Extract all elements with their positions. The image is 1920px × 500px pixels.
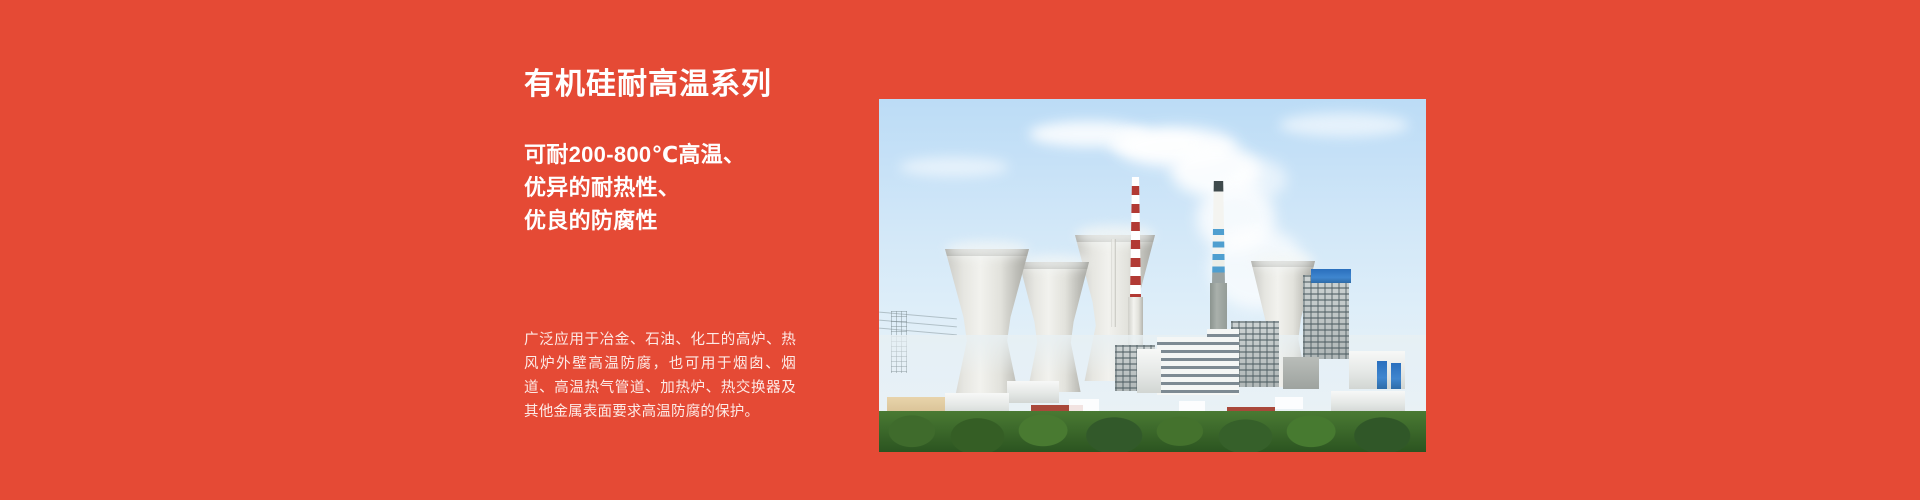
- foreground-treeline: [879, 411, 1426, 452]
- smoke-plume-5: [1231, 159, 1287, 199]
- office-tower-1: [1157, 337, 1207, 395]
- subheadline-line-1: 可耐200-800℃高温、: [524, 138, 854, 171]
- tower-steam-4: [1251, 253, 1315, 269]
- tower-steam-2: [1019, 255, 1089, 270]
- low-shed-left: [1007, 381, 1059, 403]
- subheadline-group: 可耐200-800℃高温、 优异的耐热性、 优良的防腐性: [524, 138, 854, 237]
- power-plant-photo: [879, 99, 1426, 452]
- page-title: 有机硅耐高温系列: [524, 68, 772, 101]
- tower-steam-1: [945, 241, 1029, 258]
- banner-text-column: 有机硅耐高温系列 可耐200-800℃高温、 优异的耐热性、 优良的防腐性 广泛…: [524, 0, 864, 500]
- striped-chimney-blue: [1212, 181, 1225, 285]
- secondary-stack: [1111, 239, 1116, 327]
- banner-inner: 有机硅耐高温系列 可耐200-800℃高温、 优异的耐热性、 优良的防腐性 广泛…: [0, 0, 1920, 500]
- cloud-3: [899, 157, 1009, 177]
- plant-hall: [1137, 349, 1161, 393]
- photo-scene: [879, 99, 1426, 452]
- banner-description: 广泛应用于冶金、石油、化工的高炉、热风炉外壁高温防腐，也可用于烟囱、烟道、高温热…: [524, 328, 796, 424]
- subheadline-line-3: 优良的防腐性: [524, 204, 854, 237]
- window-speck-3: [1275, 397, 1303, 409]
- office-tower-2: [1207, 329, 1239, 395]
- blue-tank-1: [1377, 361, 1387, 389]
- industrial-structure-right: [1303, 275, 1349, 359]
- low-shed-right: [1283, 357, 1319, 389]
- product-banner: 有机硅耐高温系列 可耐200-800℃高温、 优异的耐热性、 优良的防腐性 广泛…: [0, 0, 1920, 500]
- residential-block-right: [1331, 391, 1405, 413]
- window-speck-1: [1069, 399, 1099, 411]
- cloud-4: [1279, 113, 1409, 137]
- subheadline-line-2: 优异的耐热性、: [524, 171, 854, 204]
- blue-roof-building: [1311, 269, 1351, 283]
- blue-tank-2: [1391, 363, 1401, 389]
